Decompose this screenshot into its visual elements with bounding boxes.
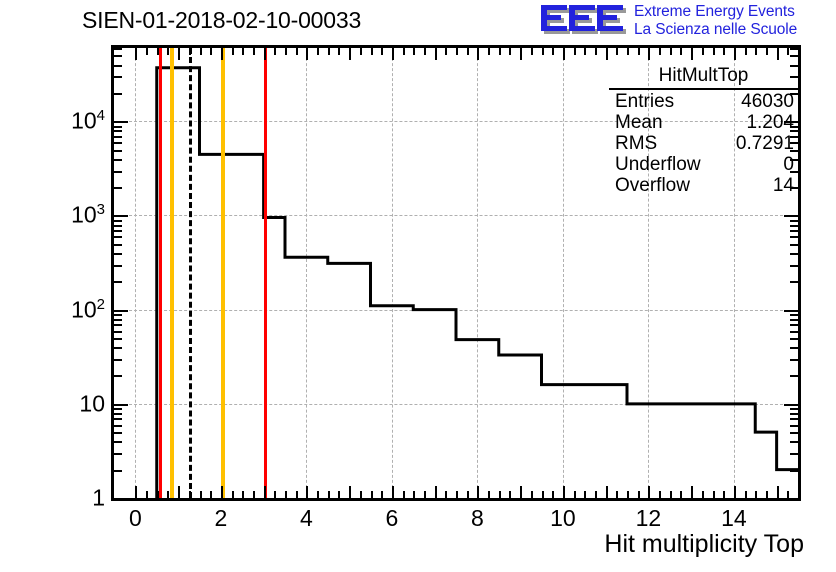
x-tick-top xyxy=(595,48,597,55)
x-tick xyxy=(167,491,169,498)
x-tick-top xyxy=(392,48,394,60)
x-tick xyxy=(766,491,768,498)
y-tick xyxy=(114,225,122,227)
marker-line-threshold-high-orange xyxy=(221,48,225,498)
stats-row: Entries46030 xyxy=(607,91,800,112)
x-tick xyxy=(574,491,576,498)
x-tick-top xyxy=(520,48,522,60)
y-tick-right xyxy=(790,359,798,361)
marker-line-mean-dashed xyxy=(189,48,192,498)
x-tick xyxy=(734,486,736,498)
x-tick xyxy=(745,491,747,498)
y-tick xyxy=(114,375,122,377)
marker-line-threshold-low-red xyxy=(159,48,162,498)
x-tick-top xyxy=(755,48,757,55)
y-tick-right xyxy=(790,324,798,326)
x-tick xyxy=(509,491,511,498)
y-tick xyxy=(114,65,122,67)
x-tick xyxy=(552,491,554,498)
x-tick-top xyxy=(264,48,266,60)
x-tick-label: 12 xyxy=(636,505,662,532)
stats-row-label: Mean xyxy=(615,112,663,133)
x-tick-top xyxy=(200,48,202,55)
x-tick xyxy=(659,491,661,498)
y-tick xyxy=(114,425,122,427)
x-tick xyxy=(253,491,255,498)
y-tick xyxy=(114,55,122,57)
x-tick-label: 2 xyxy=(214,505,227,532)
x-tick-top xyxy=(713,48,715,55)
y-tick-label: 104 xyxy=(71,108,105,135)
y-tick xyxy=(114,159,122,161)
y-tick-right xyxy=(790,319,798,321)
x-tick-top xyxy=(542,48,544,55)
x-tick-label: 8 xyxy=(471,505,484,532)
x-tick xyxy=(338,491,340,498)
x-tick-top xyxy=(221,48,223,60)
y-tick-right xyxy=(790,347,798,349)
x-tick-top xyxy=(424,48,426,55)
x-tick-top xyxy=(488,48,490,55)
y-tick xyxy=(114,48,122,50)
y-tick xyxy=(114,230,122,232)
y-tick xyxy=(114,76,122,78)
page-title: SIEN-01-2018-02-10-00033 xyxy=(82,7,361,34)
y-tick-right xyxy=(784,215,798,217)
y-tick xyxy=(114,136,122,138)
x-tick-top xyxy=(648,48,650,60)
stats-row-label: Underflow xyxy=(615,154,701,175)
y-tick-right xyxy=(790,55,798,57)
x-tick xyxy=(648,486,650,498)
x-tick-top xyxy=(638,48,640,55)
x-tick-top xyxy=(798,48,800,55)
stats-title: HitMultTop xyxy=(607,63,800,88)
eee-logo-mark-icon xyxy=(540,4,630,38)
x-tick-top xyxy=(371,48,373,55)
x-tick-top xyxy=(691,48,693,60)
y-tick xyxy=(114,453,122,455)
x-tick-top xyxy=(680,48,682,55)
x-tick xyxy=(691,486,693,498)
y-tick xyxy=(114,418,122,420)
x-tick xyxy=(798,491,800,498)
x-tick xyxy=(274,491,276,498)
x-tick-top xyxy=(274,48,276,55)
x-tick-top xyxy=(135,48,137,60)
x-tick-top xyxy=(178,48,180,60)
x-tick-top xyxy=(499,48,501,55)
x-tick-top xyxy=(189,48,191,55)
y-tick-right xyxy=(790,432,798,434)
y-tick xyxy=(114,236,122,238)
x-tick-top xyxy=(467,48,469,55)
y-tick-right xyxy=(790,331,798,333)
x-tick-top xyxy=(157,48,159,55)
x-tick-top xyxy=(253,48,255,55)
y-tick xyxy=(114,314,122,316)
x-tick xyxy=(221,486,223,498)
x-tick-top xyxy=(349,48,351,60)
x-tick xyxy=(306,486,308,498)
x-tick-top xyxy=(296,48,298,55)
x-tick-top xyxy=(381,48,383,55)
stats-row-label: Overflow xyxy=(615,175,690,196)
x-tick xyxy=(157,491,159,498)
x-tick xyxy=(499,491,501,498)
root-canvas: SIEN-01-2018-02-10-00033 xyxy=(0,0,836,572)
x-tick xyxy=(670,491,672,498)
x-tick-top xyxy=(552,48,554,55)
x-tick-top xyxy=(509,48,511,55)
x-tick xyxy=(210,491,212,498)
eee-logo: Extreme Energy Events La Scienza nelle S… xyxy=(540,2,836,42)
x-tick xyxy=(200,491,202,498)
y-tick xyxy=(114,413,122,415)
x-tick xyxy=(445,491,447,498)
y-tick-right xyxy=(790,220,798,222)
x-tick xyxy=(146,491,148,498)
stats-box: HitMultTop Entries46030Mean1.204RMS0.729… xyxy=(607,63,800,198)
x-tick-top xyxy=(702,48,704,55)
y-tick xyxy=(114,150,122,152)
x-tick xyxy=(264,486,266,498)
y-tick xyxy=(114,281,122,283)
stats-rows: Entries46030Mean1.204RMS0.7291Underflow0… xyxy=(607,91,800,196)
x-tick-label: 10 xyxy=(550,505,576,532)
x-tick xyxy=(755,491,757,498)
y-tick-right xyxy=(790,408,798,410)
y-tick xyxy=(114,265,122,267)
y-tick xyxy=(114,142,122,144)
x-tick xyxy=(424,491,426,498)
x-tick xyxy=(456,491,458,498)
x-tick-top xyxy=(670,48,672,55)
y-tick-label: 10 xyxy=(79,390,105,417)
x-tick-top xyxy=(659,48,661,55)
x-tick-top xyxy=(477,48,479,60)
y-tick-right xyxy=(790,418,798,420)
x-tick xyxy=(638,491,640,498)
x-tick-top xyxy=(413,48,415,55)
y-tick xyxy=(114,244,122,246)
y-tick xyxy=(114,441,122,443)
x-tick-top xyxy=(456,48,458,55)
x-tick xyxy=(178,486,180,498)
x-tick xyxy=(349,486,351,498)
x-tick xyxy=(777,486,779,498)
stats-row-value: 46030 xyxy=(741,91,794,112)
x-tick xyxy=(606,486,608,498)
eee-logo-line2: La Scienza nelle Scuole xyxy=(634,21,797,39)
x-tick xyxy=(242,491,244,498)
x-tick xyxy=(371,491,373,498)
stats-row-value: 0.7291 xyxy=(736,133,794,154)
y-tick xyxy=(114,338,122,340)
eee-logo-line1: Extreme Energy Events xyxy=(634,3,797,21)
x-tick xyxy=(435,486,437,498)
y-tick-label: 102 xyxy=(71,296,105,323)
y-tick-right xyxy=(790,470,798,472)
y-tick-right xyxy=(790,425,798,427)
x-tick-top xyxy=(531,48,533,55)
y-tick xyxy=(114,470,122,472)
x-tick xyxy=(135,486,137,498)
x-tick-top xyxy=(563,48,565,60)
y-tick xyxy=(114,121,128,123)
y-tick xyxy=(114,432,122,434)
x-tick-top xyxy=(574,48,576,55)
x-tick xyxy=(595,491,597,498)
marker-line-threshold-high-red xyxy=(264,48,267,498)
y-tick-right xyxy=(784,498,798,500)
x-tick-top xyxy=(435,48,437,60)
y-tick xyxy=(114,171,122,173)
x-tick xyxy=(787,491,789,498)
y-tick-right xyxy=(790,236,798,238)
y-tick-right xyxy=(784,310,798,312)
y-tick xyxy=(114,93,122,95)
stats-divider xyxy=(609,88,798,90)
y-tick-right xyxy=(790,441,798,443)
x-tick xyxy=(189,491,191,498)
x-tick xyxy=(616,491,618,498)
y-tick xyxy=(114,359,122,361)
x-tick-top xyxy=(232,48,234,55)
x-tick xyxy=(328,491,330,498)
x-tick-top xyxy=(777,48,779,60)
y-tick xyxy=(114,404,128,406)
x-tick-label: 4 xyxy=(300,505,313,532)
x-tick xyxy=(531,491,533,498)
y-tick xyxy=(114,130,122,132)
stats-row-value: 0 xyxy=(783,154,794,175)
x-tick-top xyxy=(167,48,169,55)
x-tick-top xyxy=(766,48,768,55)
stats-row: Overflow14 xyxy=(607,175,800,196)
x-tick-top xyxy=(338,48,340,55)
y-tick xyxy=(114,220,122,222)
stats-row-value: 14 xyxy=(773,175,794,196)
x-tick xyxy=(627,491,629,498)
x-tick-top xyxy=(734,48,736,60)
x-tick-top xyxy=(723,48,725,55)
x-tick xyxy=(542,491,544,498)
x-tick xyxy=(723,491,725,498)
x-tick-top xyxy=(360,48,362,55)
marker-line-threshold-low-orange xyxy=(170,48,174,498)
x-tick-top xyxy=(627,48,629,55)
x-tick xyxy=(680,491,682,498)
x-tick-top xyxy=(745,48,747,55)
y-tick xyxy=(114,310,128,312)
y-tick-right xyxy=(790,453,798,455)
stats-row: RMS0.7291 xyxy=(607,133,800,154)
y-tick-right xyxy=(790,244,798,246)
x-tick-top xyxy=(403,48,405,55)
x-tick xyxy=(702,491,704,498)
x-tick xyxy=(488,491,490,498)
x-tick-top xyxy=(285,48,287,55)
y-tick xyxy=(114,319,122,321)
y-tick-right xyxy=(784,404,798,406)
x-tick-top xyxy=(584,48,586,55)
x-tick xyxy=(296,491,298,498)
y-tick-right xyxy=(790,225,798,227)
x-tick xyxy=(232,491,234,498)
x-tick-top xyxy=(242,48,244,55)
x-tick-top xyxy=(306,48,308,60)
y-tick-label: 103 xyxy=(71,202,105,229)
x-tick-top xyxy=(146,48,148,55)
x-tick xyxy=(413,491,415,498)
y-tick-label: 1 xyxy=(92,485,105,512)
y-tick-right xyxy=(790,253,798,255)
x-tick xyxy=(520,486,522,498)
stats-row-label: Entries xyxy=(615,91,674,112)
x-tick xyxy=(317,491,319,498)
eee-logo-text: Extreme Energy Events La Scienza nelle S… xyxy=(634,3,797,39)
y-tick-right xyxy=(790,338,798,340)
y-tick-right xyxy=(790,281,798,283)
y-tick xyxy=(114,347,122,349)
x-tick xyxy=(403,491,405,498)
x-tick xyxy=(392,486,394,498)
x-tick-top xyxy=(445,48,447,55)
x-tick xyxy=(467,491,469,498)
y-tick xyxy=(114,498,128,500)
x-tick xyxy=(285,491,287,498)
x-tick-top xyxy=(787,48,789,55)
y-tick xyxy=(114,187,122,189)
x-tick xyxy=(584,491,586,498)
x-tick xyxy=(477,486,479,498)
y-tick-right xyxy=(790,48,798,50)
x-axis-title: Hit multiplicity Top xyxy=(604,530,804,559)
x-tick-top xyxy=(328,48,330,55)
y-tick-right xyxy=(790,230,798,232)
x-tick-top xyxy=(317,48,319,55)
y-tick xyxy=(114,324,122,326)
x-tick xyxy=(563,486,565,498)
x-tick-top xyxy=(210,48,212,55)
y-tick-right xyxy=(790,314,798,316)
x-tick xyxy=(381,491,383,498)
y-tick xyxy=(114,126,122,128)
x-tick-top xyxy=(606,48,608,60)
stats-row-label: RMS xyxy=(615,133,657,154)
x-tick-top xyxy=(616,48,618,55)
y-tick xyxy=(114,215,128,217)
y-tick xyxy=(114,408,122,410)
x-tick xyxy=(360,491,362,498)
y-tick-right xyxy=(790,375,798,377)
x-tick xyxy=(713,491,715,498)
y-tick-right xyxy=(790,413,798,415)
stats-row: Mean1.204 xyxy=(607,112,800,133)
x-tick-label: 6 xyxy=(385,505,398,532)
x-tick-label: 0 xyxy=(129,505,142,532)
stats-row: Underflow0 xyxy=(607,154,800,175)
x-tick-label: 14 xyxy=(721,505,747,532)
stats-row-value: 1.204 xyxy=(746,112,794,133)
y-tick xyxy=(114,331,122,333)
y-tick xyxy=(114,253,122,255)
y-tick-right xyxy=(790,265,798,267)
